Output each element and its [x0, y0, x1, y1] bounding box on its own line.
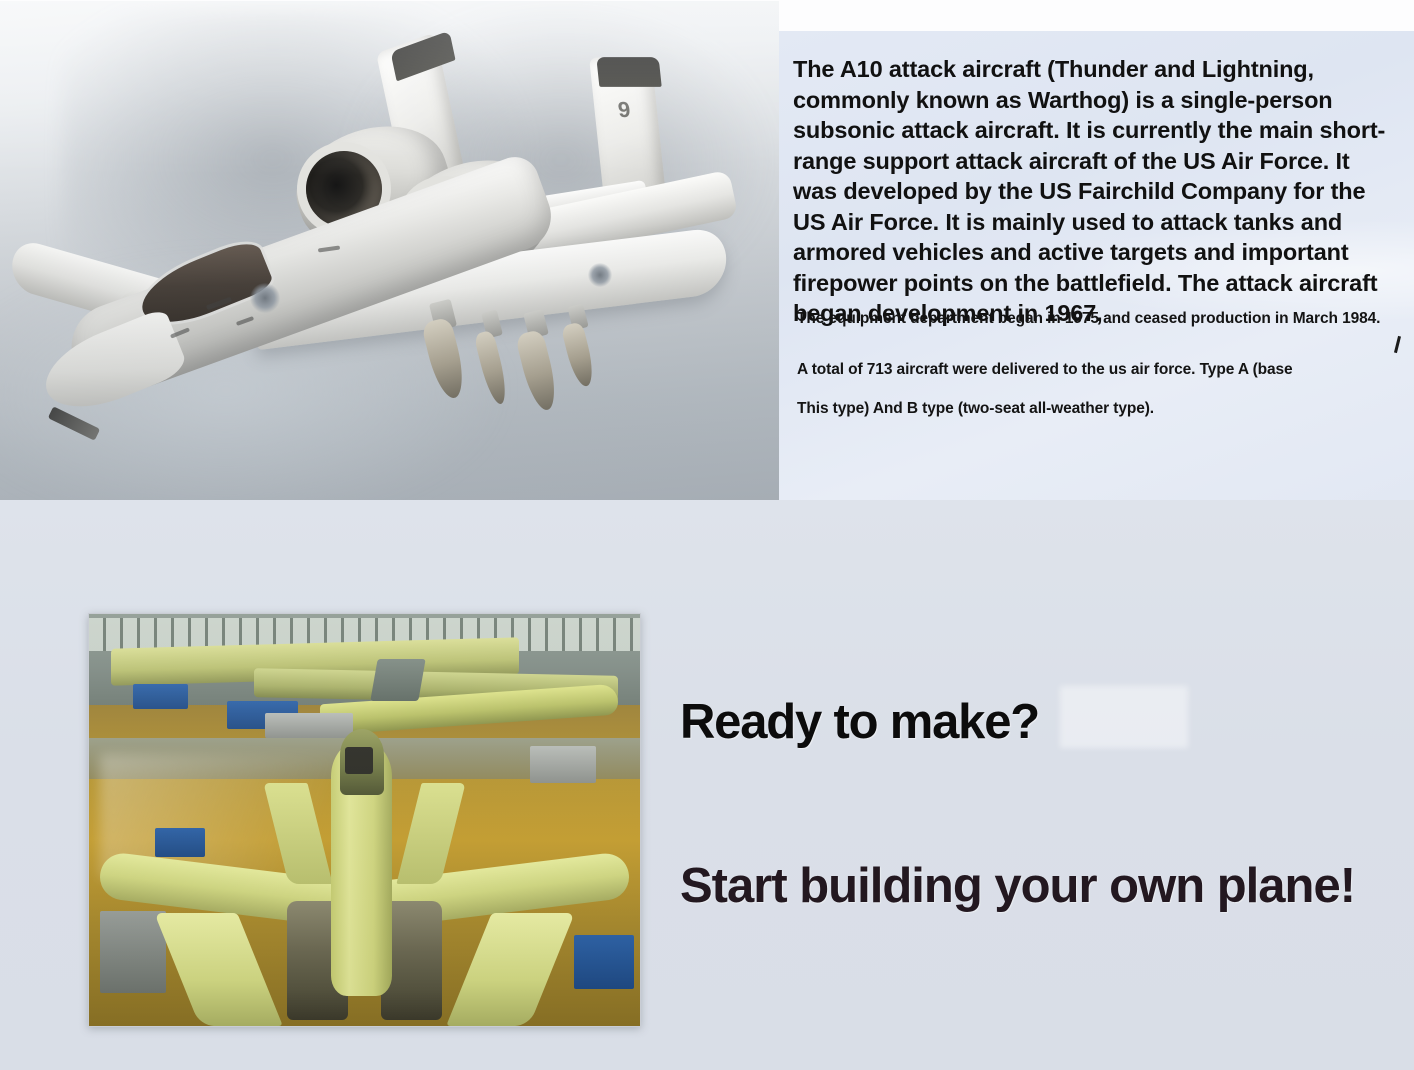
delivery-total-line: A total of 713 aircraft were delivered t… [797, 360, 1397, 380]
headline-ready-to-make: Ready to make? [680, 694, 1039, 750]
atmospheric-haze [0, 1, 779, 500]
aircraft-factory-assembly-line-photo [88, 613, 641, 1027]
a10-warthog-in-flight-photo: 9 [0, 1, 779, 500]
headline-start-building: Start building your own plane! [680, 858, 1355, 914]
slide-canvas: 9 [0, 0, 1414, 1070]
variant-types-line: This type) And B type (two-seat all-weat… [797, 399, 1397, 419]
a10-description-paragraph: The A10 attack aircraft (Thunder and Lig… [793, 54, 1398, 329]
photo-tone-overlay [89, 614, 640, 1026]
erased-text-area [1060, 686, 1188, 748]
production-dates-line: The equipment department began in 1975 a… [797, 309, 1397, 329]
